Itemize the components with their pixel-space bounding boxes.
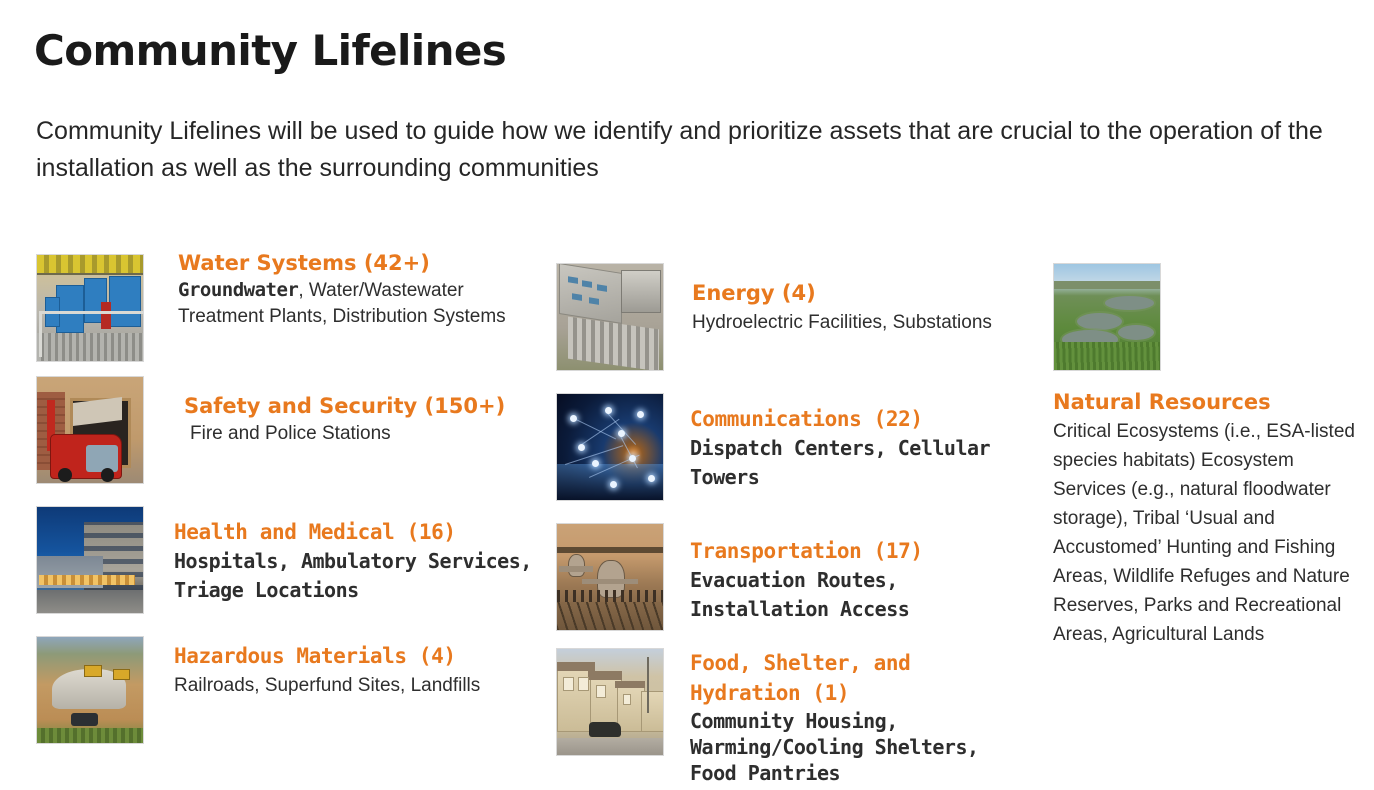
- lifeline-desc: Community Housing, Warming/Cooling Shelt…: [690, 708, 1020, 786]
- page-subtitle: Community Lifelines will be used to guid…: [36, 113, 1336, 187]
- hospital-building-photo: [36, 506, 144, 614]
- lifeline-title: Food, Shelter, and Hydration (1): [690, 648, 1020, 708]
- lifeline-title: Communications (22): [690, 405, 1030, 434]
- lifeline-desc: Fire and Police Stations: [184, 421, 539, 447]
- lifeline-title: Energy (4): [692, 279, 1032, 308]
- lifeline-title: Hazardous Materials (4): [174, 642, 534, 671]
- lifeline-text-transportation: Transportation (17) Evacuation Routes, I…: [690, 537, 1030, 624]
- tidal-marsh-photo: [1053, 263, 1161, 371]
- lifeline-desc: Critical Ecosystems (i.e., ESA-listed sp…: [1053, 417, 1368, 649]
- lifeline-title: Natural Resources: [1053, 388, 1368, 417]
- lifeline-desc: Evacuation Routes, Installation Access: [690, 566, 1030, 624]
- lifeline-desc: Dispatch Centers, Cellular Towers: [690, 434, 1030, 492]
- lifeline-title: Water Systems (42+): [178, 250, 536, 277]
- lifeline-text-water-systems: Water Systems (42+) Groundwater, Water/W…: [178, 250, 536, 330]
- water-treatment-pumps-photo: [36, 254, 144, 362]
- lifeline-text-energy: Energy (4) Hydroelectric Facilities, Sub…: [692, 279, 1032, 337]
- lifeline-text-food-shelter-hydration: Food, Shelter, and Hydration (1) Communi…: [690, 648, 1020, 786]
- fire-station-engine-photo: [36, 376, 144, 484]
- lifeline-text-hazardous-materials: Hazardous Materials (4) Railroads, Super…: [174, 642, 534, 700]
- aircraft-airfield-photo: [556, 523, 664, 631]
- lifeline-text-communications: Communications (22) Dispatch Centers, Ce…: [690, 405, 1030, 492]
- lifeline-text-natural-resources: Natural Resources Critical Ecosystems (i…: [1053, 388, 1368, 649]
- lifeline-title: Health and Medical (16): [174, 518, 534, 547]
- lifeline-title: Safety and Security (150+): [184, 392, 539, 421]
- lifeline-title: Transportation (17): [690, 537, 1030, 566]
- lifeline-text-safety-and-security: Safety and Security (150+) Fire and Poli…: [184, 392, 539, 447]
- lifeline-desc: Railroads, Superfund Sites, Landfills: [174, 671, 534, 700]
- network-nodes-photo: [556, 393, 664, 501]
- lifeline-desc-lead: Groundwater: [178, 279, 298, 301]
- landfill-site-photo: [36, 636, 144, 744]
- suburban-housing-photo: [556, 648, 664, 756]
- electrical-substation-aerial-photo: [556, 263, 664, 371]
- lifeline-text-health-and-medical: Health and Medical (16) Hospitals, Ambul…: [174, 518, 534, 605]
- lifeline-desc: Hospitals, Ambulatory Services, Triage L…: [174, 547, 534, 605]
- lifeline-desc: Hydroelectric Facilities, Substations: [692, 308, 1032, 337]
- page-title: Community Lifelines: [34, 26, 506, 75]
